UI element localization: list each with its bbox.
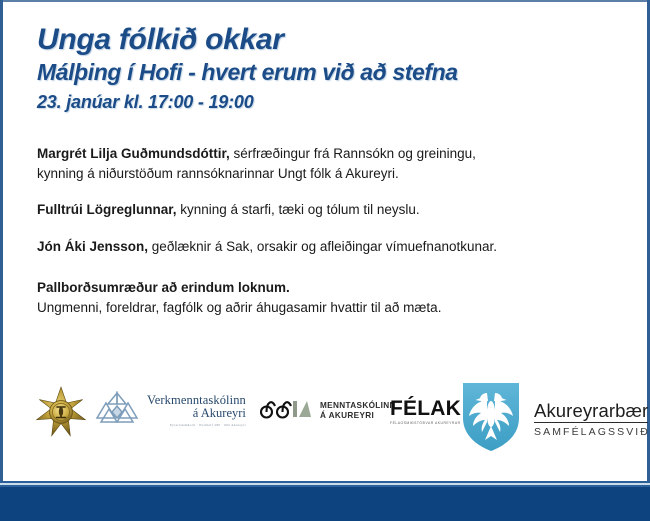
program-item: Pallborðsumræður að erindum loknum. Ungm… <box>37 278 607 317</box>
vma-line2: á Akureyri <box>147 407 246 420</box>
program-item: Fulltrúi Lögreglunnar, kynning á starfi,… <box>37 200 607 220</box>
ma-symbol-icon <box>258 396 314 425</box>
speaker-name: Jón Áki Jensson, <box>37 239 148 254</box>
vma-wordmark: Verkmenntaskólinn á Akureyri Eyrarlandsh… <box>147 394 246 427</box>
speaker-name: Margrét Lilja Guðmundsdóttir, <box>37 146 230 161</box>
vma-chevron-icon <box>93 388 141 433</box>
ma-wordmark: MENNTASKÓLINN Á AKUREYRI <box>320 401 396 419</box>
akureyri-department: SAMFÉLAGSSVIÐ <box>534 427 650 438</box>
page-title: Unga fólkið okkar <box>37 24 627 56</box>
logo-logreglan <box>35 386 87 438</box>
speaker-role: sérfræðingur frá Rannsókn og greiningu, <box>230 146 476 161</box>
poster-content: Unga fólkið okkar Málþing í Hofi - hvert… <box>5 2 647 481</box>
akureyri-shield-icon <box>460 380 522 459</box>
speaker-role: geðlæknir á Sak, orsakir og afleiðingar … <box>148 239 497 254</box>
akureyri-wordmark: Akureyrarbær SAMFÉLAGSSVIÐ <box>534 401 650 438</box>
vma-fineprint: Eyrarlandsholti · Pósthólf 280 · 602 Aku… <box>147 424 246 427</box>
felak-fineprint: FÉLAGSMIÐSTÖÐVAR AKUREYRAR <box>390 421 461 425</box>
felak-wordmark: FÉLAK <box>390 398 461 419</box>
event-datetime: 23. janúar kl. 17:00 - 19:00 <box>37 92 627 113</box>
logo-verkmenntaskolinn: Verkmenntaskólinn á Akureyri Eyrarlandsh… <box>93 388 246 433</box>
akureyri-name: Akureyrarbær <box>534 401 648 423</box>
page-subtitle: Málþing í Hofi - hvert erum við að stefn… <box>37 60 627 85</box>
program-item: Jón Áki Jensson, geðlæknir á Sak, orsaki… <box>37 237 607 257</box>
sponsor-logo-row: Verkmenntaskólinn á Akureyri Eyrarlandsh… <box>35 380 635 460</box>
panel-heading: Pallborðsumræður að erindum loknum. <box>37 280 290 295</box>
police-badge-icon <box>35 386 87 438</box>
ma-line2: Á AKUREYRI <box>320 411 396 420</box>
speaker-name: Fulltrúi Lögreglunnar, <box>37 202 177 217</box>
speaker-role: kynning á starfi, tæki og tólum til neys… <box>177 202 420 217</box>
audience-note: Ungmenni, foreldrar, fagfólk og aðrir áh… <box>37 298 607 318</box>
logo-akureyrarbaer: Akureyrarbær SAMFÉLAGSSVIÐ <box>460 380 650 459</box>
ma-line1: MENNTASKÓLINN <box>320 401 396 410</box>
logo-felak: FÉLAK FÉLAGSMIÐSTÖÐVAR AKUREYRAR <box>390 398 461 425</box>
speaker-detail: kynning á niðurstöðum rannsóknarinnar Un… <box>37 164 607 184</box>
logo-menntaskolinn: MENNTASKÓLINN Á AKUREYRI <box>258 396 396 425</box>
footer-blue-band <box>0 487 650 521</box>
vma-line1: Verkmenntaskólinn <box>147 394 246 407</box>
headline-block: Unga fólkið okkar Málþing í Hofi - hvert… <box>37 24 627 113</box>
poster-root: Unga fólkið okkar Málþing í Hofi - hvert… <box>0 0 650 521</box>
body-text-block: Margrét Lilja Guðmundsdóttir, sérfræðing… <box>37 144 607 317</box>
program-item: Margrét Lilja Guðmundsdóttir, sérfræðing… <box>37 144 607 183</box>
